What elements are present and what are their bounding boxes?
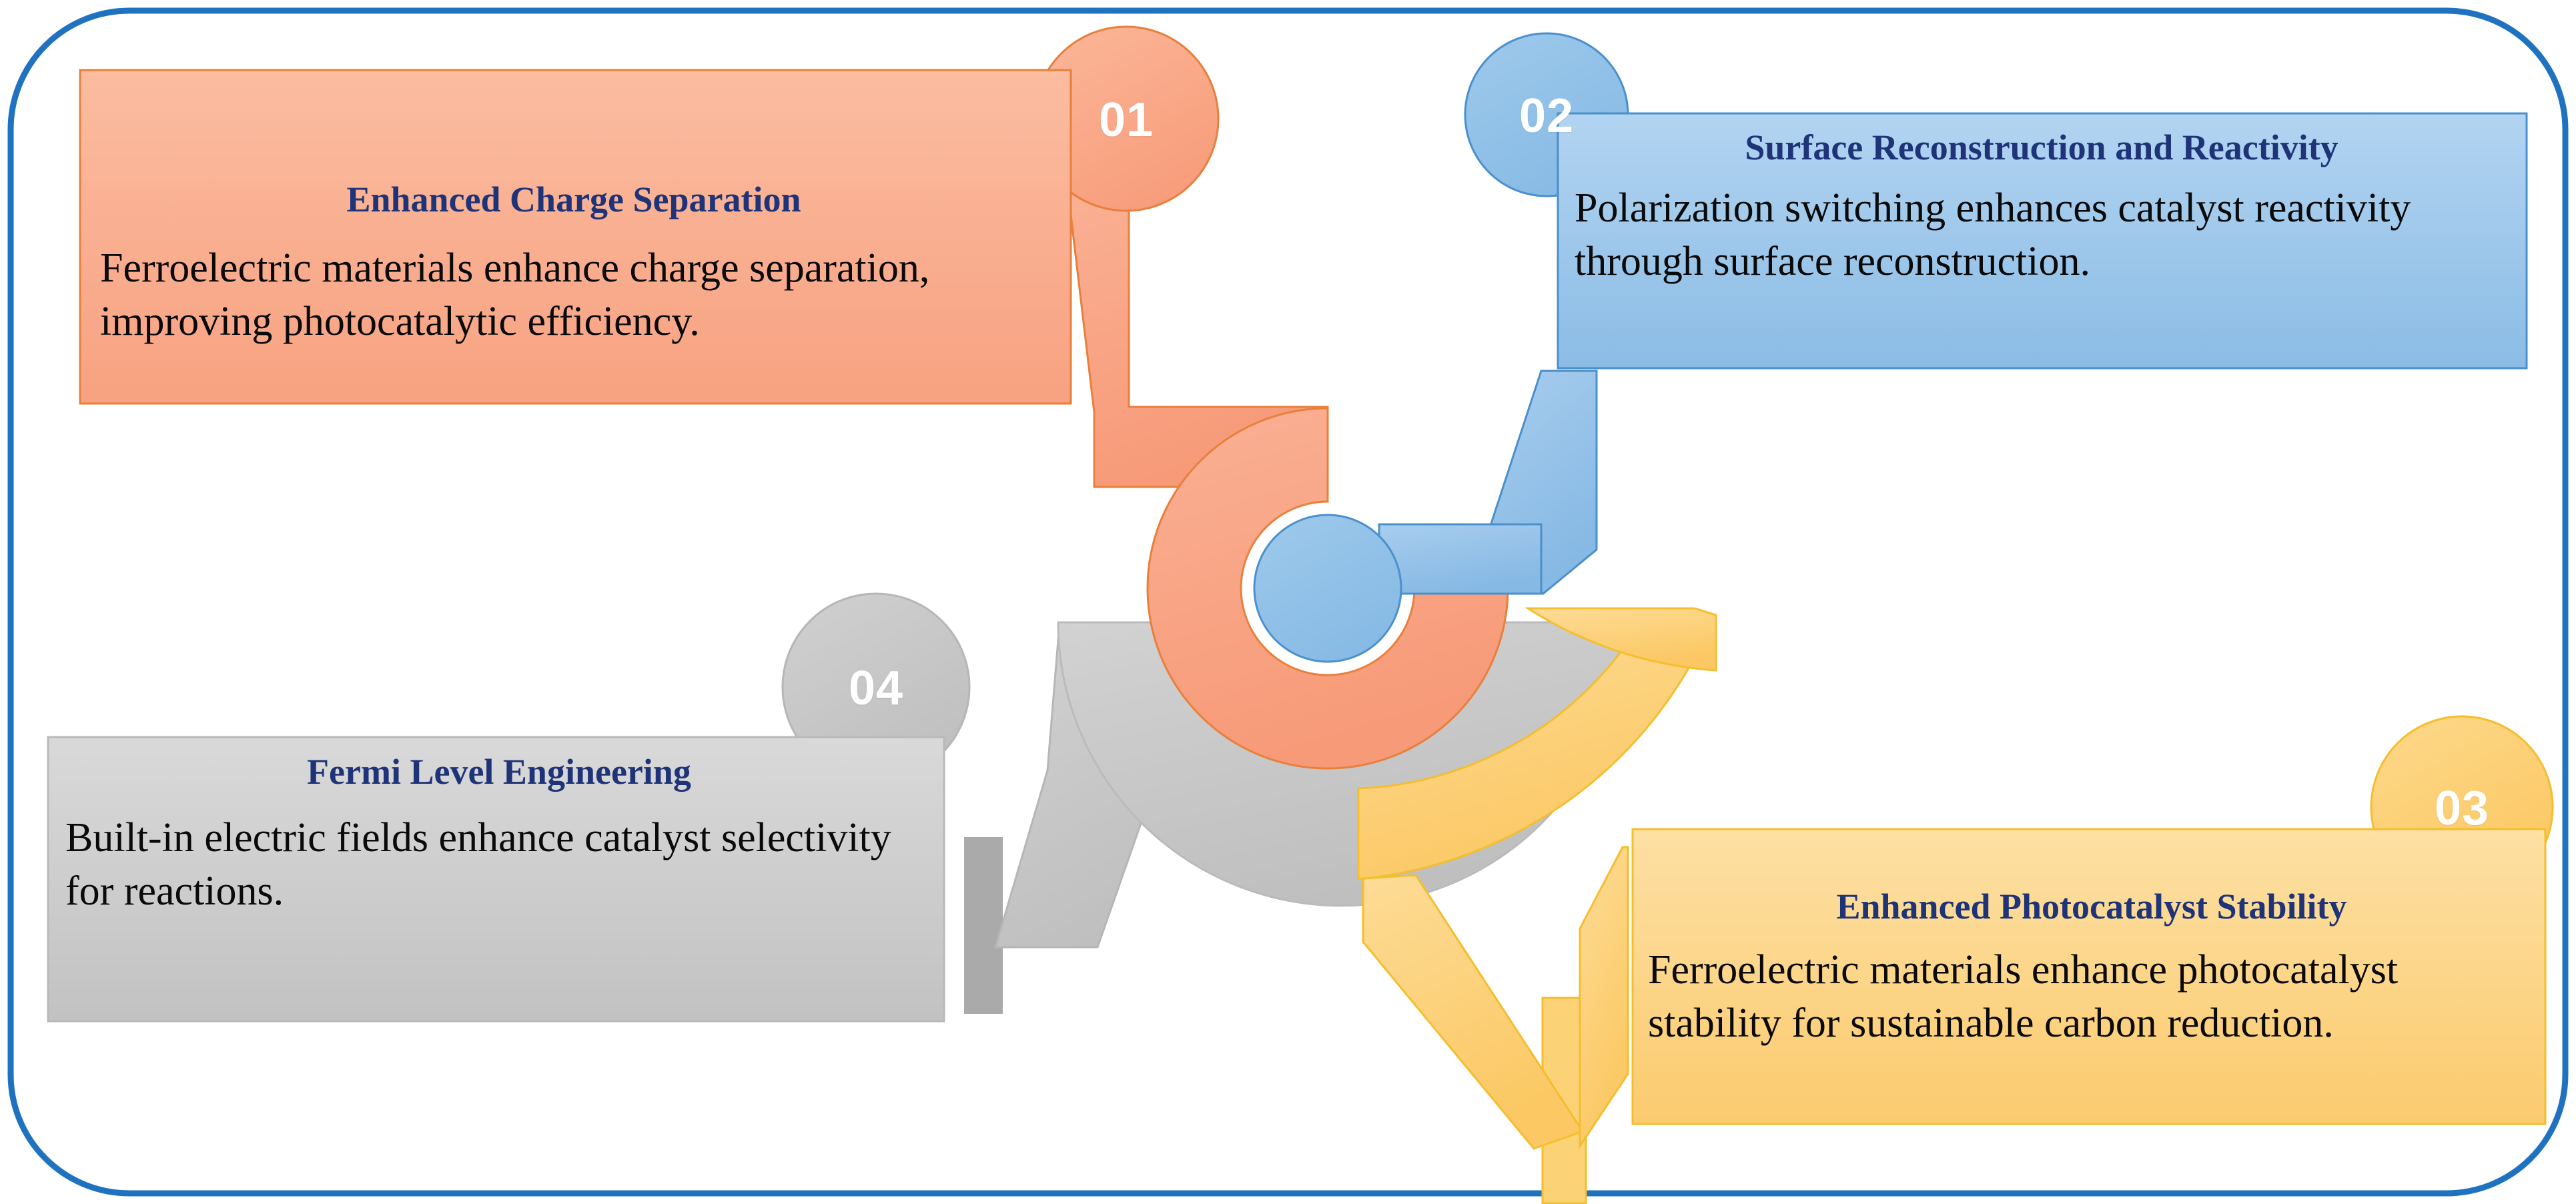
card-title-01: Enhanced Charge Separation (100, 180, 1047, 219)
number-label-01: 01 (1099, 93, 1154, 147)
gray-connector-tab (964, 837, 1003, 1014)
center-circle[interactable] (1254, 515, 1401, 662)
card-body-01: Ferroelectric materials enhance charge s… (100, 242, 1047, 348)
card-content-01: Enhanced Charge Separation Ferroelectric… (100, 180, 1047, 348)
yellow-connector-blade-right (1580, 847, 1628, 1146)
card-body-03: Ferroelectric materials enhance photocat… (1648, 944, 2535, 1050)
number-label-02: 02 (1519, 89, 1574, 143)
card-body-02: Polarization switching enhances catalyst… (1575, 182, 2509, 288)
card-title-03: Enhanced Photocatalyst Stability (1648, 887, 2535, 927)
infographic-canvas: 01 02 03 04 Enhanced Charge Separation F… (0, 0, 2576, 1204)
card-content-04: Fermi Level Engineering Built-in electri… (65, 752, 933, 918)
number-label-04: 04 (849, 661, 903, 716)
blue-ribbon-horizontal (1379, 524, 1541, 594)
card-content-02: Surface Reconstruction and Reactivity Po… (1575, 128, 2509, 288)
infographic-artboard: 01 02 03 04 Enhanced Charge Separation F… (0, 0, 2576, 1204)
number-label-03: 03 (2435, 781, 2489, 836)
card-title-04: Fermi Level Engineering (65, 752, 933, 792)
card-content-03: Enhanced Photocatalyst Stability Ferroel… (1648, 887, 2535, 1050)
card-body-04: Built-in electric fields enhance catalys… (65, 812, 933, 918)
card-title-02: Surface Reconstruction and Reactivity (1575, 128, 2509, 167)
